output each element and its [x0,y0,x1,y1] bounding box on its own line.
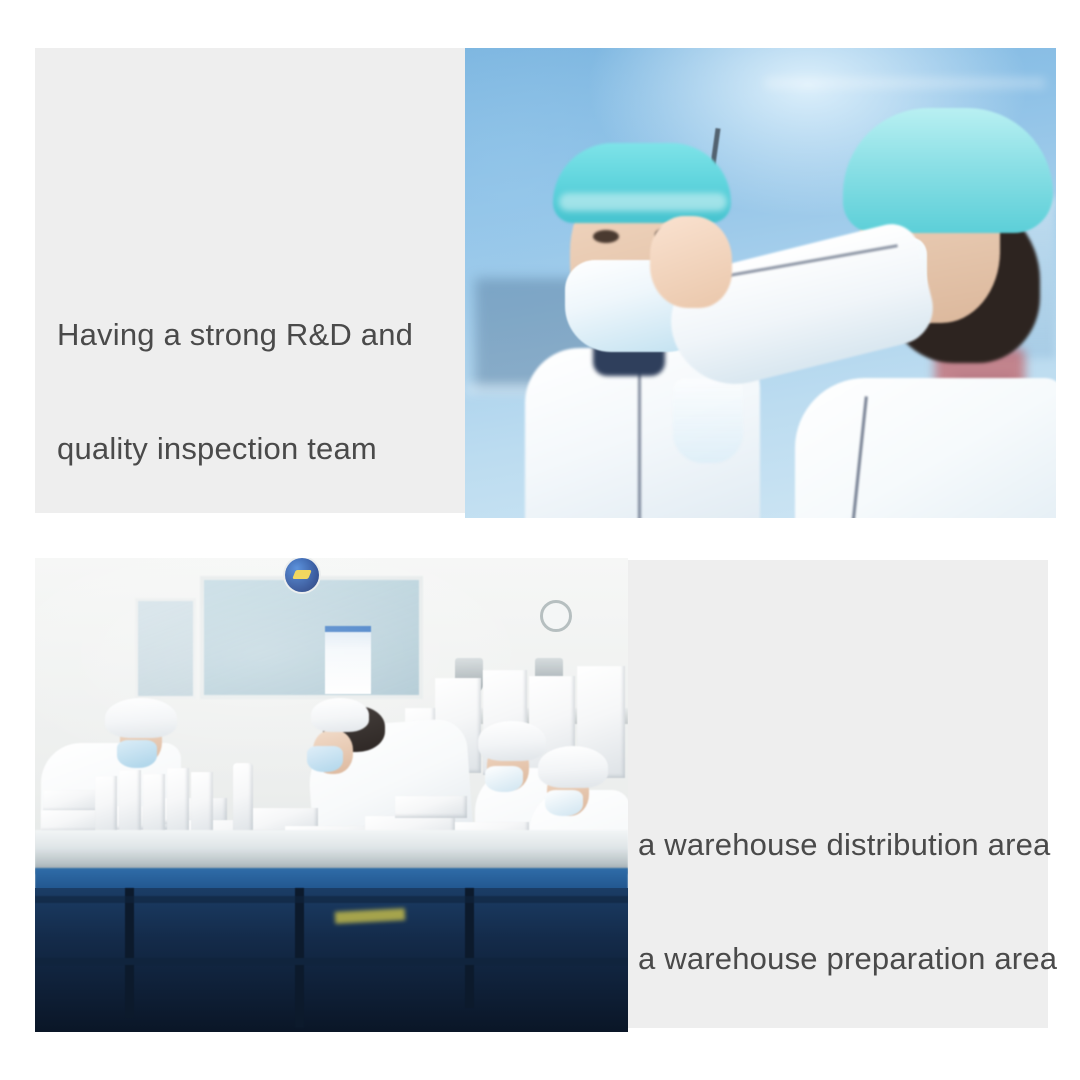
worker-2-face-mask [307,746,343,772]
technician-a-hair-net [553,143,731,223]
technician-b-hair-net [843,108,1053,233]
top-caption: Having a strong R&D and quality inspecti… [57,240,447,506]
carton-table-1 [43,790,101,812]
worker-4-hair-net [538,746,608,788]
worker-3-hair-net [478,721,546,761]
warehouse-packing-area-photo [35,558,628,1032]
carton-table-9 [395,796,467,818]
warehouse-glass-window [200,576,423,699]
table-leg-3 [465,888,474,1008]
worker-2-hair-net [311,698,369,732]
carton-upright-1 [95,776,117,838]
lab-shelf-upper [765,78,1045,88]
table-leg-1 [125,888,134,1018]
technician-b-hand [650,216,732,308]
carton-bottle-white [233,763,253,835]
bottom-caption: a warehouse distribution area a warehous… [638,750,1038,1016]
carton-upright-3 [143,774,165,838]
carton-upright-5 [191,772,213,838]
blue-circular-sign-icon [285,558,319,592]
top-caption-line-1: Having a strong R&D and [57,316,447,354]
worker-1-hair-net [105,698,177,738]
table-rail-2 [35,896,628,903]
table-rail-1 [35,958,628,965]
carton-upright-4 [167,768,189,838]
bottom-caption-line-1: a warehouse distribution area [638,826,1038,864]
bottom-caption-line-2: a warehouse preparation area [638,940,1038,978]
wall-notice-poster [325,626,371,694]
technician-b-labcoat [795,378,1056,518]
top-caption-line-2: quality inspection team [57,430,447,468]
technician-a-eye-left [593,230,619,243]
carton-upright-2 [119,770,141,838]
worker-3-face-mask [485,766,523,792]
glass-flask-left [673,378,743,463]
wall-clock-icon [540,600,572,632]
worker-4-face-mask [545,790,583,816]
worker-1-face-mask [117,740,157,768]
carton-table-2 [41,810,103,832]
warehouse-glass-window-small [135,598,196,699]
rd-quality-inspection-lab-photo [465,48,1056,518]
